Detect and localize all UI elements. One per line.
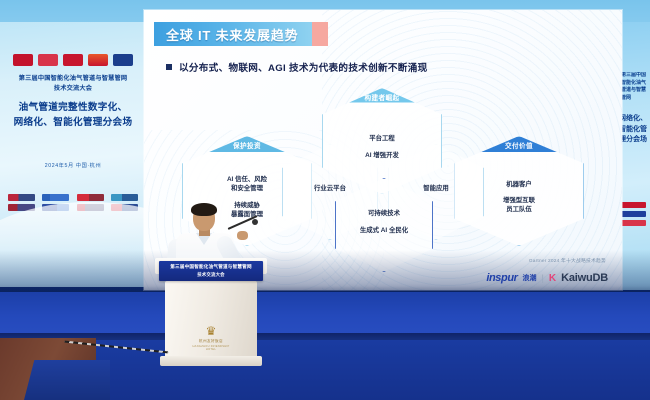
hexagon-item: 机器客户 [506,180,532,189]
inspur-chinese-name: 浪潮 [523,273,537,283]
sponsor-red-icon [620,202,646,208]
podium-crest: ♛ 杭州友好饭店 HANGZHOU FRIENDSHIP HOTEL [188,325,234,351]
venue-name-sub: HANGZHOU FRIENDSHIP HOTEL [188,345,234,351]
right-banner-sponsors [620,202,646,229]
microphone-icon [252,219,258,225]
banner-subtitle-line1: 第三届中国智能化油气管道与智慧管网 [4,74,142,84]
slide-bullet: 以分布式、物联网、AGI 技术为代表的技术创新不断涌现 [166,60,427,74]
hexagon-item: AI 增强开发 [365,151,399,160]
slide-brand-row: inspur 浪潮 | K KaiwuDB [486,272,608,284]
slide-title-text: 全球 IT 未来发展趋势 [166,25,298,44]
inspur-wordmark: inspur [486,272,517,284]
hexagon-items: 机器客户 增强型互联 员工队伍 [497,153,541,245]
hexagon-item: 平台工程 [369,134,395,143]
hexagon-item: 行业云平台 [314,184,346,193]
banner-subtitle: 第三届中国智能化油气管道与智慧管网 技术交流大会 [4,74,142,93]
banner-sponsor-grid [8,194,138,214]
banner-headline: 油气管道完整性数字化、 网络化、智能化管理分会场 [4,100,142,131]
banner-subtitle-line2: 技术交流大会 [4,84,142,94]
slide-source-attribution: Gartner 2024 年十大战略技术趋势 [529,257,606,264]
speaker-hair [191,203,217,216]
slide-bullet-text: 以分布式、物联网、AGI 技术为代表的技术创新不断涌现 [179,60,427,74]
hexagon-label: 交付价值 [455,137,583,153]
stage-step [24,360,110,400]
hexagon-label: 构建者崛起 [323,89,441,105]
hexagon-item: 可持续技术 [368,209,400,218]
kaiwudb-wordmark: KaiwuDB [561,272,608,284]
stage-edge [0,333,650,340]
podium-base [160,356,262,366]
slide-title-bg: 全球 IT 未来发展趋势 [154,22,312,46]
logo-sinopec-red-icon [38,54,58,66]
sponsor-zhongyou-red-icon [8,204,35,211]
logo-assoc-blue-icon [113,54,133,66]
podium: ♛ 杭州友好饭店 HANGZHOU FRIENDSHIP HOTEL 第三届中国… [155,258,267,368]
sponsor-hikrobot-icon [77,204,104,211]
banner-headline-line2: 网络化、智能化管理分会场 [4,115,142,130]
sponsor-blue-icon [620,211,646,217]
hexagon-item: 增强型互联 员工队伍 [503,196,535,215]
logo-cnpc-red-icon [13,54,33,66]
sponsor-row [8,194,138,201]
podium-sign: 第三届中国智能化油气管道与智慧管网 技术交流大会 [159,261,263,281]
hexagon-item: 生成式 AI 全民化 [360,226,408,235]
slide-title-bar: 全球 IT 未来发展趋势 [154,22,328,46]
sponsor-lenovo-red-icon [77,194,104,201]
left-conference-banner: 第三届中国智能化油气管道与智慧管网 技术交流大会 油气管道完整性数字化、 网络化… [0,22,146,287]
banner-date-location: 2024年5月 中国·杭州 [4,162,142,169]
logo-petro-orange-icon [88,54,108,66]
sponsor-red-2-icon [620,220,646,226]
podium-body: ♛ 杭州友好饭店 HANGZHOU FRIENDSHIP HOTEL [165,281,257,359]
crown-icon: ♛ [188,325,234,337]
hexagon-item: 智能应用 [423,184,449,193]
hexagon-label: 保护投资 [183,137,311,153]
sponsor-inspur-cn-icon [42,204,69,211]
sponsor-tianyi-red-icon [111,204,138,211]
conference-stage-photo: 第三届中国智能化油气管道与智慧管网 技术交流大会 油气管道完整性数字化、 网络化… [0,0,650,400]
right-banner-headline: 网络化、智能化管理分会场 [619,114,649,146]
slide-title-accent-block [312,22,328,46]
brand-divider: | [542,273,544,283]
banner-headline-line1: 油气管道完整性数字化、 [4,100,142,115]
sponsor-row [8,204,138,211]
sponsor-huawei-blue-icon [111,194,138,201]
podium-sign-line1: 第三届中国智能化油气管道与智慧管网 [170,264,252,270]
logo-pipechina-red-icon [63,54,83,66]
square-bullet-icon [166,64,172,70]
right-banner-subtitle: 第三届中国智能化油气管道与智慧管网 [621,72,647,102]
kaiwudb-mark-icon: K [549,273,556,284]
venue-name: 杭州友好饭店 [188,339,234,344]
hexagon-item: AI 信任、风险 和安全管理 [227,175,267,194]
sponsor-inspur-blue-icon [42,194,69,201]
sponsor-beijing-red-icon [8,194,35,201]
banner-logo-row [0,54,146,66]
podium-sign-line2: 技术交流大会 [197,272,225,278]
speaker-hand [237,231,248,240]
